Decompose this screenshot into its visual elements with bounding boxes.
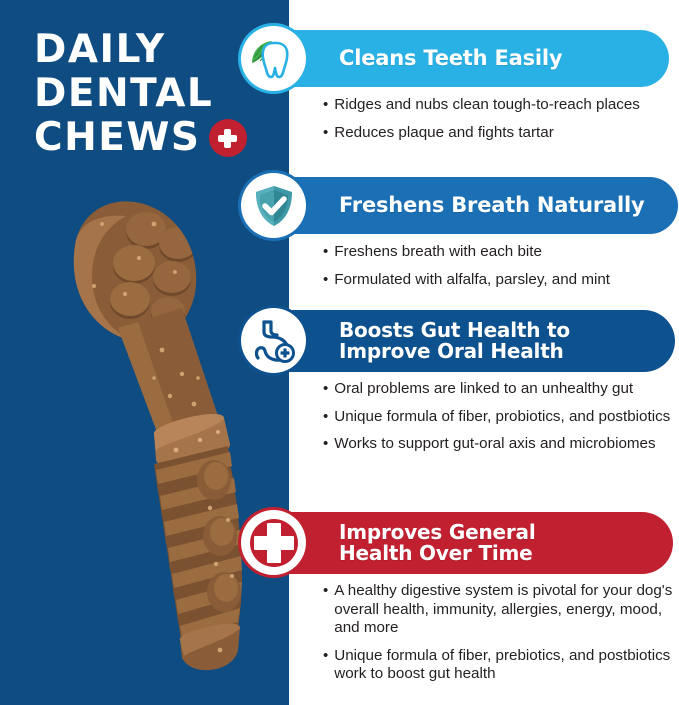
dental-chew-illustration bbox=[42, 188, 257, 688]
feature-4-header[interactable]: Improves General Health Over Time bbox=[243, 512, 673, 574]
bullet-marker: • bbox=[323, 582, 328, 638]
bullet-text: Formulated with alfalfa, parsley, and mi… bbox=[334, 271, 673, 290]
bullet-marker: • bbox=[323, 96, 328, 115]
bullet-text: Ridges and nubs clean tough-to-reach pla… bbox=[334, 96, 673, 115]
feature-3-header[interactable]: Boosts Gut Health to Improve Oral Health bbox=[243, 310, 675, 372]
title-line-3: CHEWS bbox=[34, 116, 201, 160]
title-line-3-row: CHEWS bbox=[34, 116, 274, 160]
bullet-text: Reduces plaque and fights tartar bbox=[334, 124, 673, 143]
list-item: • Works to support gut-oral axis and mic… bbox=[323, 435, 673, 454]
list-item: • Unique formula of fiber, prebiotics, a… bbox=[323, 647, 673, 684]
bullet-text: Oral problems are linked to an unhealthy… bbox=[334, 380, 673, 399]
feature-2-title: Freshens Breath Naturally bbox=[339, 194, 660, 217]
feature-3-title-line2: Improve Oral Health bbox=[339, 339, 564, 363]
bullet-marker: • bbox=[323, 243, 328, 262]
title-line-1: DAILY bbox=[34, 28, 274, 72]
feature-1-bullets: • Ridges and nubs clean tough-to-reach p… bbox=[323, 96, 673, 151]
title-line-2: DENTAL bbox=[34, 72, 274, 116]
bullet-marker: • bbox=[323, 408, 328, 427]
bullet-text: Freshens breath with each bite bbox=[334, 243, 673, 262]
feature-4-title-line2: Health Over Time bbox=[339, 541, 533, 565]
stomach-plus-icon bbox=[241, 308, 306, 373]
bullet-marker: • bbox=[323, 435, 328, 454]
bullet-text: Works to support gut-oral axis and micro… bbox=[334, 435, 673, 454]
feature-2-header[interactable]: Freshens Breath Naturally bbox=[243, 177, 678, 234]
medical-cross-icon bbox=[209, 119, 247, 157]
list-item: • Unique formula of fiber, probiotics, a… bbox=[323, 408, 673, 427]
feature-4-title: Improves General Health Over Time bbox=[339, 522, 551, 564]
bullet-text: Unique formula of fiber, probiotics, and… bbox=[334, 408, 673, 427]
feature-3-title: Boosts Gut Health to Improve Oral Health bbox=[339, 320, 586, 362]
list-item: • Reduces plaque and fights tartar bbox=[323, 124, 673, 143]
shield-check-icon bbox=[241, 173, 306, 238]
list-item: • Freshens breath with each bite bbox=[323, 243, 673, 262]
feature-1-title: Cleans Teeth Easily bbox=[339, 47, 578, 70]
page-title: DAILY DENTAL CHEWS bbox=[34, 28, 274, 160]
feature-1-header[interactable]: Cleans Teeth Easily bbox=[243, 30, 669, 87]
bullet-marker: • bbox=[323, 647, 328, 684]
features-panel: Cleans Teeth Easily • Ridges and nubs cl… bbox=[289, 0, 679, 705]
bullet-marker: • bbox=[323, 271, 328, 290]
feature-2-bullets: • Freshens breath with each bite • Formu… bbox=[323, 243, 673, 298]
bullet-marker: • bbox=[323, 380, 328, 399]
infographic-page: DAILY DENTAL CHEWS bbox=[0, 0, 679, 705]
tooth-leaf-icon bbox=[241, 26, 306, 91]
list-item: • Oral problems are linked to an unhealt… bbox=[323, 380, 673, 399]
list-item: • Ridges and nubs clean tough-to-reach p… bbox=[323, 96, 673, 115]
feature-4-bullets: • A healthy digestive system is pivotal … bbox=[323, 582, 673, 693]
list-item: • A healthy digestive system is pivotal … bbox=[323, 582, 673, 638]
medical-cross-icon bbox=[241, 510, 306, 575]
bullet-marker: • bbox=[323, 124, 328, 143]
list-item: • Formulated with alfalfa, parsley, and … bbox=[323, 271, 673, 290]
bullet-text: A healthy digestive system is pivotal fo… bbox=[334, 582, 673, 638]
bullet-text: Unique formula of fiber, prebiotics, and… bbox=[334, 647, 673, 684]
feature-3-bullets: • Oral problems are linked to an unhealt… bbox=[323, 380, 673, 463]
